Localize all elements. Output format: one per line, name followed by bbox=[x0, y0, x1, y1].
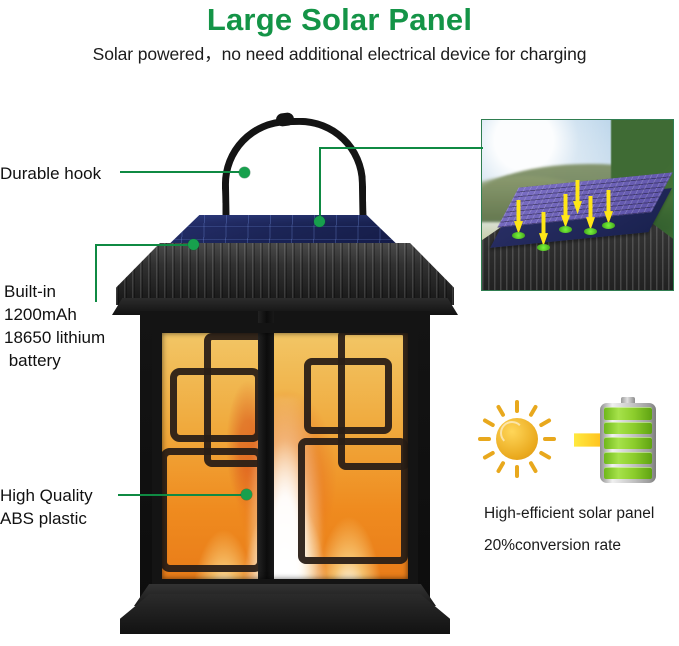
infographic-canvas: Large Solar Panel Solar powered，no need … bbox=[0, 0, 679, 646]
sun-ray bbox=[478, 437, 491, 441]
lattice-motif bbox=[160, 448, 264, 572]
sun-ray bbox=[515, 465, 519, 478]
sun-icon bbox=[478, 400, 556, 478]
battery-cell bbox=[604, 452, 652, 465]
leader-line-abs bbox=[118, 494, 248, 496]
battery-cell bbox=[604, 467, 652, 480]
callout-dot-abs bbox=[241, 489, 252, 500]
sun-ray bbox=[539, 450, 552, 460]
ray-impact-glow bbox=[512, 232, 525, 239]
leader-line-roof-horizontal bbox=[95, 244, 195, 246]
sun-ray bbox=[543, 437, 556, 441]
efficiency-line-2: 20%conversion rate bbox=[484, 537, 621, 555]
efficiency-line-1: High-efficient solar panel bbox=[484, 505, 654, 523]
ray-impact-glow bbox=[559, 226, 572, 233]
leader-line-panel-vertical bbox=[319, 148, 321, 224]
leader-line-panel-horizontal bbox=[319, 147, 483, 149]
sun-ray bbox=[515, 400, 519, 413]
page-title: Large Solar Panel bbox=[0, 2, 679, 38]
sun-ray bbox=[528, 404, 538, 417]
sun-core bbox=[496, 418, 538, 460]
ray-impact-glow bbox=[602, 222, 615, 229]
battery-cell bbox=[604, 407, 652, 420]
sun-ray bbox=[539, 418, 552, 428]
sun-ray bbox=[496, 404, 506, 417]
solar-flame-lantern bbox=[112, 118, 458, 634]
sun-ray bbox=[482, 418, 495, 428]
lantern-roof bbox=[116, 243, 454, 305]
annotation-battery: Built-in 1200mAh 18650 lithium battery bbox=[4, 280, 105, 372]
lantern-base bbox=[120, 594, 450, 634]
ray-impact-glow bbox=[537, 244, 550, 251]
callout-dot-hook bbox=[239, 167, 250, 178]
leader-line-hook bbox=[120, 171, 246, 173]
annotation-durable-hook: Durable hook bbox=[0, 162, 101, 185]
ray-impact-glow bbox=[584, 228, 597, 235]
sun-ray bbox=[496, 461, 506, 474]
solar-panel-closeup-photo bbox=[481, 119, 674, 291]
battery-body bbox=[600, 403, 656, 483]
sun-ray bbox=[482, 450, 495, 460]
callout-dot-panel bbox=[314, 216, 325, 227]
annotation-abs-plastic: High Quality ABS plastic bbox=[0, 484, 93, 530]
lattice-motif bbox=[298, 438, 408, 564]
page-subtitle: Solar powered，no need additional electri… bbox=[0, 41, 679, 66]
battery-icon bbox=[600, 397, 656, 483]
sun-ray bbox=[528, 461, 538, 474]
lantern-center-post bbox=[258, 311, 274, 601]
callout-dot-roof bbox=[188, 239, 199, 250]
battery-cell bbox=[604, 422, 652, 435]
battery-cell bbox=[604, 437, 652, 450]
